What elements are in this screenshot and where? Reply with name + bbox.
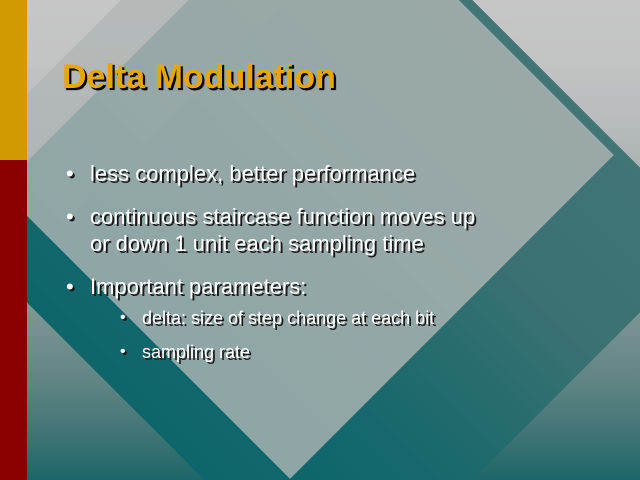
sub-bullet-dot-icon: • bbox=[120, 340, 126, 364]
slide-bullet-list: • less complex, better performance • con… bbox=[62, 160, 622, 380]
sub-bullet-item: • delta: size of step change at each bit bbox=[116, 306, 622, 330]
bullet-text: continuous staircase function moves up bbox=[90, 203, 622, 230]
sub-bullet-text: sampling rate bbox=[142, 342, 250, 362]
bullet-dot-icon: • bbox=[66, 203, 74, 230]
bullet-dot-icon: • bbox=[66, 160, 74, 187]
bullet-text: less complex, better performance bbox=[90, 160, 622, 187]
presentation-slide: Delta Modulation • less complex, better … bbox=[0, 0, 640, 480]
bullet-item: • Important parameters: • delta: size of… bbox=[62, 273, 622, 364]
slide-title: Delta Modulation bbox=[62, 58, 336, 97]
bullet-text-wrap: or down 1 unit each sampling time bbox=[90, 230, 622, 257]
bullet-dot-icon: • bbox=[66, 273, 74, 300]
sub-bullet-dot-icon: • bbox=[120, 306, 126, 330]
sub-bullet-text: delta: size of step change at each bit bbox=[142, 308, 434, 328]
bullet-text: Important parameters: bbox=[90, 273, 622, 300]
sub-bullet-item: • sampling rate bbox=[116, 340, 622, 364]
slide-content: Delta Modulation • less complex, better … bbox=[0, 0, 640, 480]
bullet-item: • less complex, better performance bbox=[62, 160, 622, 187]
sub-bullet-list: • delta: size of step change at each bit… bbox=[90, 306, 622, 364]
bullet-item: • continuous staircase function moves up… bbox=[62, 203, 622, 257]
